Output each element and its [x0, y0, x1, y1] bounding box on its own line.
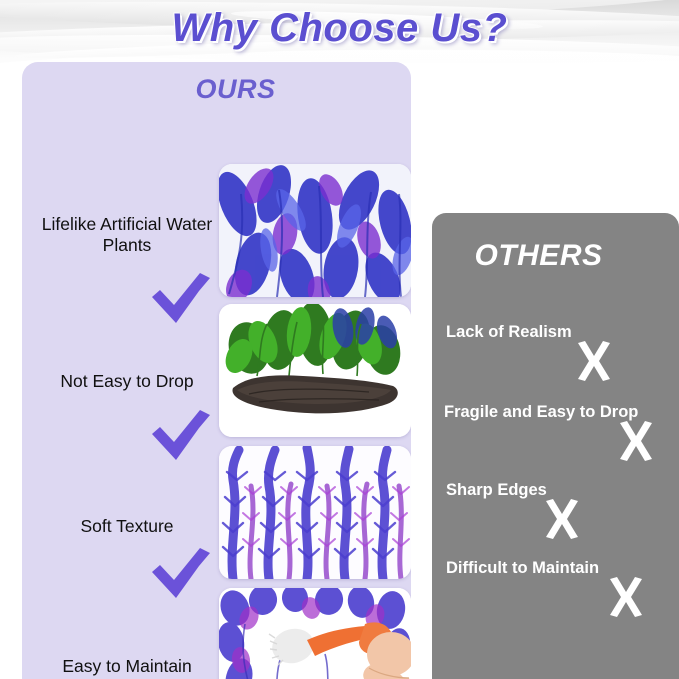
others-drawback-label: Sharp Edges [446, 481, 547, 500]
ours-feature-label: Soft Texture [32, 516, 222, 537]
others-drawback-label: Difficult to Maintain [446, 559, 599, 578]
ours-feature-label: Lifelike Artificial Water Plants [32, 214, 222, 257]
ours-feature-label: Easy to Maintain [32, 656, 222, 677]
others-drawback-label: Fragile and Easy to Drop [444, 403, 638, 422]
others-drawback-row: Fragile and Easy to Drop [444, 403, 679, 473]
ours-feature-row: Lifelike Artificial Water Plants [22, 116, 411, 256]
others-drawback-row: Sharp Edges [446, 481, 676, 551]
others-drawback-label: Lack of Realism [446, 323, 572, 342]
ours-feature-label: Not Easy to Drop [32, 371, 222, 392]
ours-feature-row: Soft Texture [22, 396, 411, 536]
others-panel: OTHERS Lack of Realism Fragile and Easy … [432, 213, 679, 679]
others-heading: OTHERS [432, 239, 645, 273]
ours-feature-row: Easy to Maintain [22, 536, 411, 679]
others-drawback-row: Lack of Realism [446, 323, 676, 393]
page-title: Why Choose Us? [0, 6, 679, 51]
cleaning-plant-with-brush-photo [219, 588, 411, 679]
x-mark-icon [606, 577, 646, 617]
x-mark-icon [542, 499, 582, 539]
x-mark-icon [574, 341, 614, 381]
x-mark-icon [616, 421, 656, 461]
ours-feature-photo [219, 588, 411, 679]
others-drawback-row: Difficult to Maintain [446, 559, 676, 629]
ours-panel: OURS Lifelike Artificial Water Plants [22, 62, 411, 679]
ours-heading: OURS [22, 74, 411, 105]
ours-feature-row: Not Easy to Drop [22, 256, 411, 396]
